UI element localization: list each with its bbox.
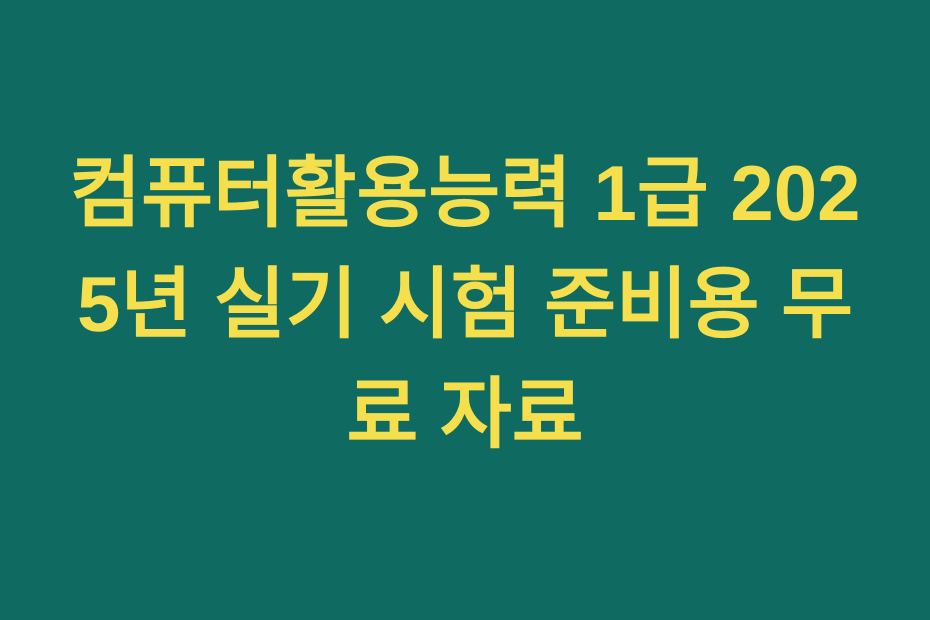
title-block: 컴퓨터활용능력 1급 2025년 실기 시험 준비용 무료 자료 [65,138,865,470]
page-title: 컴퓨터활용능력 1급 2025년 실기 시험 준비용 무료 자료 [65,138,865,470]
title-card: 컴퓨터활용능력 1급 2025년 실기 시험 준비용 무료 자료 [0,0,930,620]
